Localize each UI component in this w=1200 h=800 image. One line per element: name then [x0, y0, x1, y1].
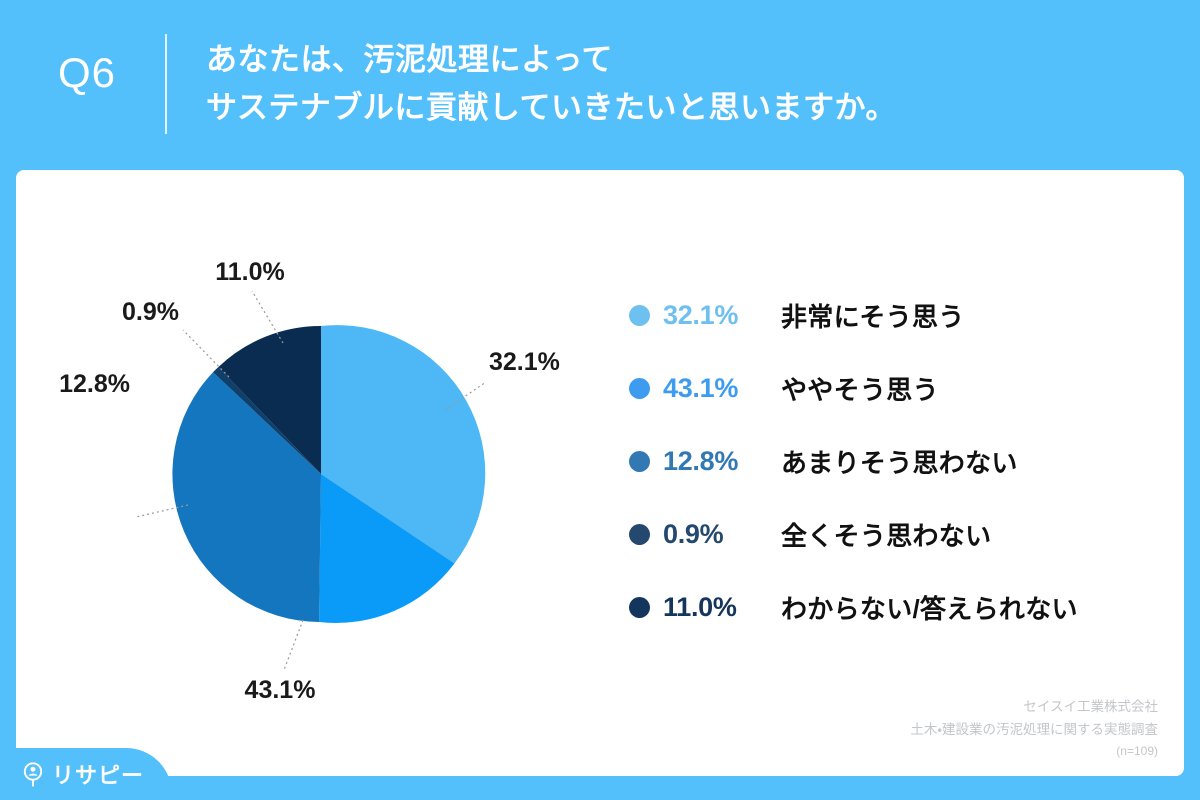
pie-value-label-2: 12.8%: [59, 370, 130, 398]
legend-label: ややそう思う: [781, 370, 939, 407]
pie-value-label-0: 32.1%: [489, 348, 560, 376]
pie-value-label-3: 0.9%: [122, 298, 179, 326]
pie-chart: 32.1% 43.1% 12.8% 0.9% 11.0%: [16, 170, 636, 776]
question-line-1: あなたは、汚泥処理によって: [206, 36, 1156, 84]
legend-percent: 32.1%: [663, 300, 781, 331]
brand-logo-text: リサピー: [52, 758, 144, 790]
legend-item-3[interactable]: 0.9% 全くそう思わない: [629, 509, 1169, 559]
legend-dot-icon: [629, 524, 650, 545]
question-number: Q6: [58, 52, 158, 94]
legend-item-4[interactable]: 11.0% わからない/答えられない: [629, 582, 1169, 632]
source-survey: 土木・建設業の汚泥処理に関する実態調査: [910, 718, 1158, 741]
chart-legend: 32.1% 非常にそう思う 43.1% ややそう思う 12.8% あまりそう思わ…: [629, 290, 1169, 632]
leader-line-1: [284, 620, 303, 670]
brand-logo[interactable]: リサピー: [0, 748, 172, 800]
legend-label: わからない/答えられない: [781, 589, 1078, 626]
legend-item-2[interactable]: 12.8% あまりそう思わない: [629, 436, 1169, 486]
question-title: あなたは、汚泥処理によって サステナブルに貢献していきたいと思いますか。: [206, 36, 1156, 132]
source-company: セイスイ工業株式会社: [910, 695, 1158, 718]
legend-label: 非常にそう思う: [781, 297, 965, 334]
legend-label: あまりそう思わない: [781, 443, 1018, 480]
legend-dot-icon: [629, 305, 650, 326]
header-banner: Q6 あなたは、汚泥処理によって サステナブルに貢献していきたいと思いますか。: [0, 0, 1200, 170]
legend-percent: 11.0%: [663, 592, 781, 623]
legend-dot-icon: [629, 451, 650, 472]
pie-chart-svg: 32.1% 43.1% 12.8% 0.9% 11.0%: [16, 170, 636, 776]
header-divider: [165, 34, 167, 134]
legend-dot-icon: [629, 597, 650, 618]
legend-percent: 43.1%: [663, 373, 781, 404]
search-person-icon: [22, 761, 45, 787]
legend-item-0[interactable]: 32.1% 非常にそう思う: [629, 290, 1169, 340]
legend-percent: 0.9%: [663, 519, 781, 550]
legend-label: 全くそう思わない: [781, 516, 991, 553]
legend-percent: 12.8%: [663, 446, 781, 477]
legend-dot-icon: [629, 378, 650, 399]
legend-item-1[interactable]: 43.1% ややそう思う: [629, 363, 1169, 413]
question-line-2: サステナブルに貢献していきたいと思いますか。: [206, 84, 1156, 132]
pie-value-label-1: 43.1%: [245, 676, 316, 704]
pie-value-label-4: 11.0%: [215, 258, 285, 286]
source-note: セイスイ工業株式会社 土木・建設業の汚泥処理に関する実態調査 (n=109): [910, 695, 1158, 762]
source-sample-size: (n=109): [910, 741, 1158, 762]
chart-card: 32.1% 43.1% 12.8% 0.9% 11.0% 32.1% 非常にそう…: [16, 170, 1184, 776]
